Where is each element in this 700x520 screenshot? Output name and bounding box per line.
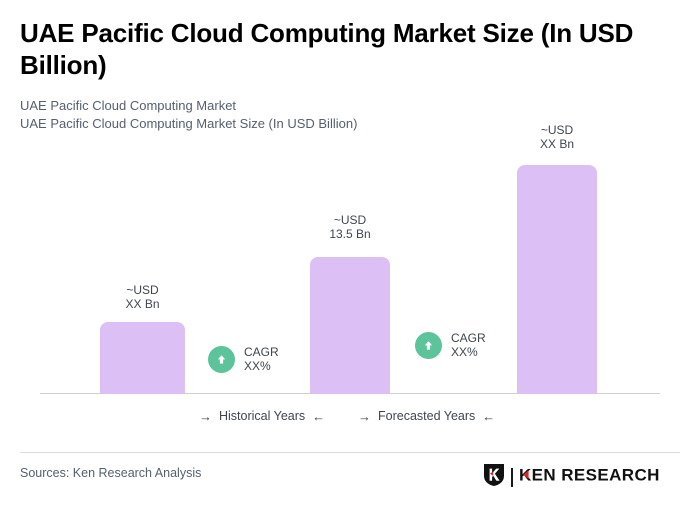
period-label-historical: → Historical Years ← [199,409,325,423]
bar-historical-years[interactable] [100,322,185,394]
bar-value-label-3-line2: XX Bn [517,137,597,151]
period-label-historical-text: Historical Years [219,409,305,423]
logo-divider [511,468,513,487]
arrow-up-icon [415,332,442,359]
period-label-forecast: → Forecasted Years ← [358,409,495,423]
arrow-up-icon [208,346,235,373]
chart-plot-area: ~USD XX Bn CAGR XX% ~USD 13.5 Bn [0,0,700,440]
bar-value-label-3: ~USD XX Bn [517,123,597,151]
bar-value-label-1-line2: XX Bn [100,297,185,311]
bar-value-label-1: ~USD XX Bn [100,283,185,311]
cagr-badge-2-line1: CAGR [451,331,486,345]
svg-text:KEN RESEARCH: KEN RESEARCH [519,466,660,485]
brand-wordmark: KEN RESEARCH [519,465,669,490]
cagr-badge-1[interactable]: CAGR XX% [208,345,279,373]
bar-value-label-3-line1: ~USD [517,123,597,137]
bar-value-label-2: ~USD 13.5 Bn [310,213,390,241]
arrow-left-icon: ← [312,410,325,423]
period-label-forecast-text: Forecasted Years [378,409,475,423]
arrow-right-icon: → [358,410,371,423]
bar-base-year[interactable] [310,257,390,394]
bar-value-label-2-line1: ~USD [310,213,390,227]
ken-research-shield-icon [483,463,505,492]
cagr-badge-2[interactable]: CAGR XX% [415,331,486,359]
cagr-badge-2-text: CAGR XX% [451,331,486,359]
arrow-right-icon: → [199,410,212,423]
market-size-chart-card: UAE Pacific Cloud Computing Market Size … [0,0,700,520]
cagr-badge-1-line2: XX% [244,359,279,373]
cagr-badge-2-line2: XX% [451,345,486,359]
arrow-left-icon: ← [482,410,495,423]
cagr-badge-1-line1: CAGR [244,345,279,359]
ken-research-logo: KEN RESEARCH [483,463,669,492]
sources-text: Sources: Ken Research Analysis [20,466,201,480]
bar-value-label-1-line1: ~USD [100,283,185,297]
bar-forecasted-years[interactable] [517,165,597,394]
cagr-badge-1-text: CAGR XX% [244,345,279,373]
bar-value-label-2-line2: 13.5 Bn [310,227,390,241]
period-labels: → Historical Years ← → Forecasted Years … [0,409,700,429]
footer-divider [20,452,680,453]
